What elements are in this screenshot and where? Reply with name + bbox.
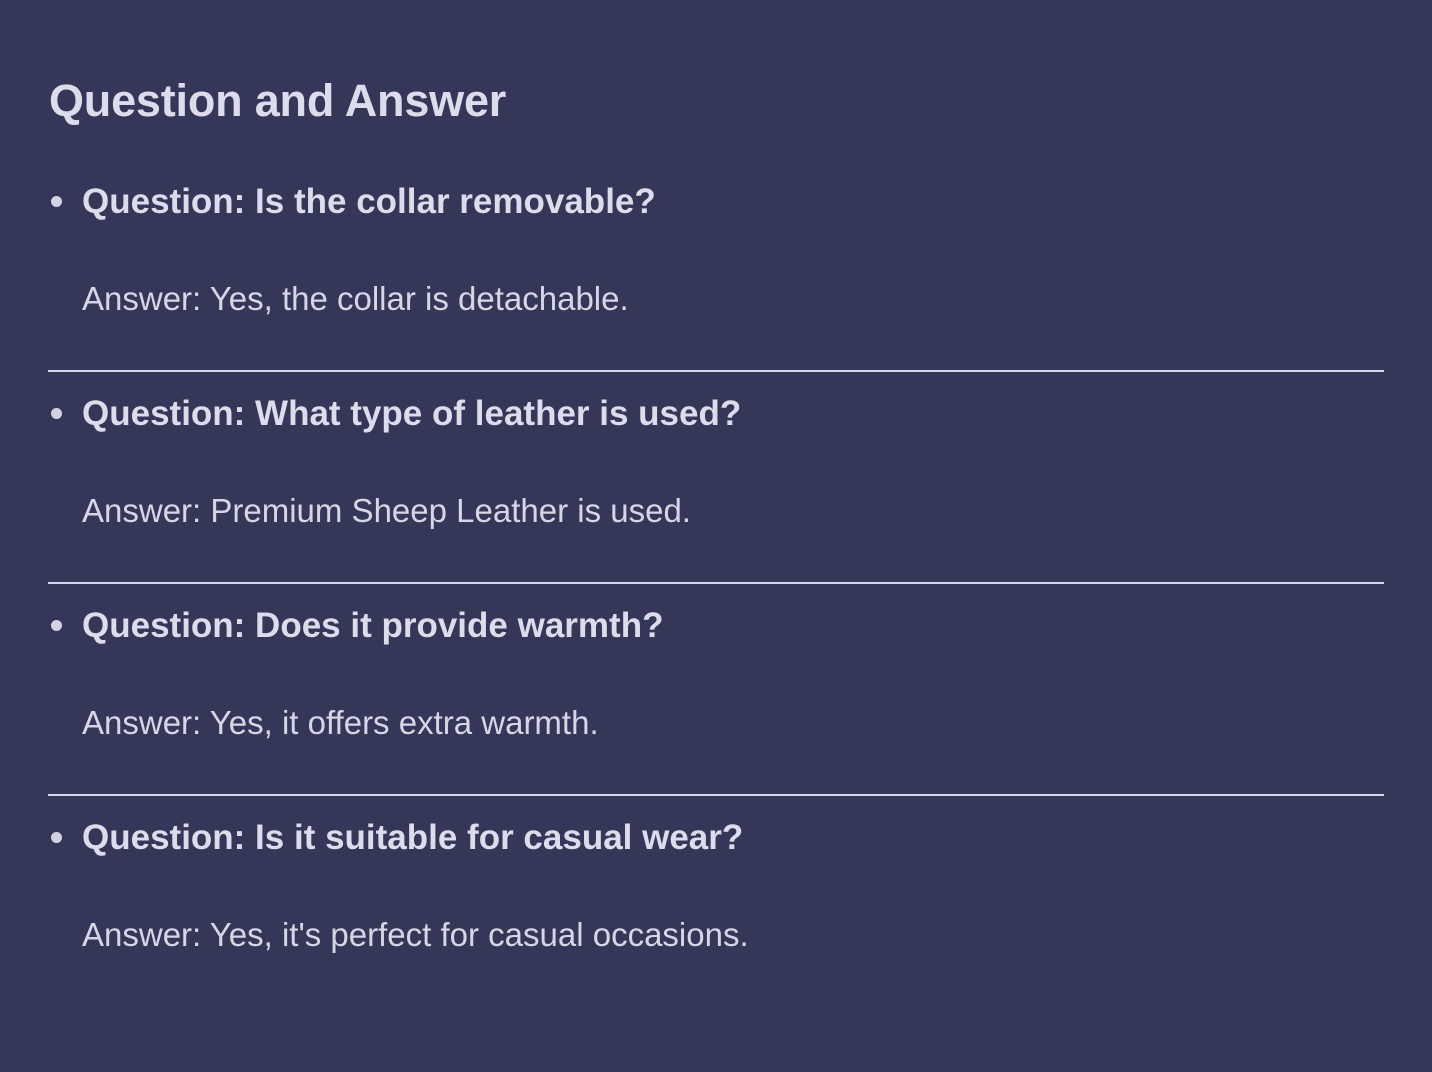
question-text: Question: Does it provide warmth? [49, 604, 1386, 649]
bullet-dot-icon [51, 620, 62, 631]
qa-row: Question: Is the collar removable? Answe… [0, 160, 1432, 320]
qa-list: Question: Is the collar removable? Answe… [0, 160, 1432, 956]
bullet-dot-icon [51, 408, 62, 419]
question-text: Question: What type of leather is used? [49, 392, 1386, 437]
question-label: Question: Does it provide warmth? [82, 606, 663, 645]
qa-row: Question: Does it provide warmth? Answer… [0, 584, 1432, 744]
question-label: Question: What type of leather is used? [82, 394, 741, 433]
qa-list-item: Question: Is the collar removable? Answe… [0, 160, 1432, 372]
answer-text: Answer: Yes, it offers extra warmth. [49, 702, 1386, 744]
question-text: Question: Is the collar removable? [49, 180, 1386, 225]
question-label: Question: Is it suitable for casual wear… [82, 818, 743, 857]
question-label: Question: Is the collar removable? [82, 182, 656, 221]
answer-text: Answer: Yes, it's perfect for casual occ… [49, 914, 1386, 956]
qa-list-item: Question: Is it suitable for casual wear… [0, 796, 1432, 956]
qa-list-item: Question: What type of leather is used? … [0, 372, 1432, 584]
answer-text: Answer: Yes, the collar is detachable. [49, 278, 1386, 320]
answer-text: Answer: Premium Sheep Leather is used. [49, 490, 1386, 532]
qa-row: Question: What type of leather is used? … [0, 372, 1432, 532]
qa-row: Question: Is it suitable for casual wear… [0, 796, 1432, 956]
bullet-dot-icon [51, 832, 62, 843]
question-and-answer-panel: Question and Answer Question: Is the col… [0, 0, 1432, 1072]
bullet-dot-icon [51, 196, 62, 207]
page-title: Question and Answer [49, 74, 506, 128]
question-text: Question: Is it suitable for casual wear… [49, 816, 1386, 861]
qa-list-item: Question: Does it provide warmth? Answer… [0, 584, 1432, 796]
